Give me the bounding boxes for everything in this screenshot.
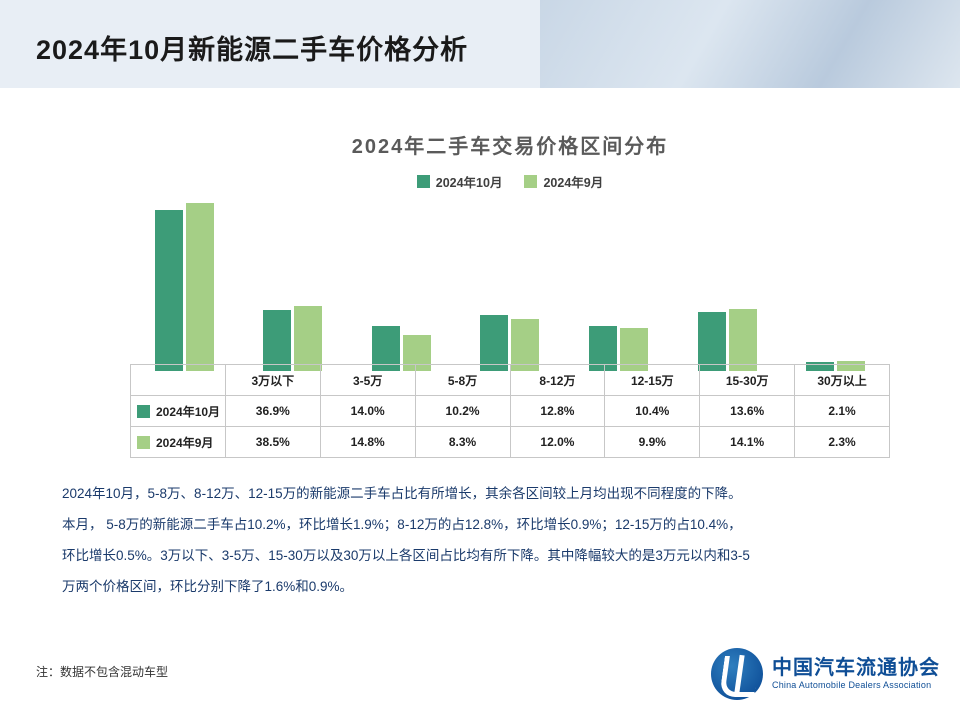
legend-label-0: 2024年10月 [436,172,503,191]
table-column-header: 3万以下 [225,365,320,396]
paragraph-line: 本月， 5-8万的新能源二手车占10.2%，环比增长1.9%；8-12万的占12… [62,509,898,540]
page-header: 2024年10月新能源二手车价格分析 [0,0,960,88]
table-series-label: 2024年10月 [156,403,220,420]
page-title: 2024年10月新能源二手车价格分析 [36,28,468,67]
legend-label-1: 2024年9月 [543,172,603,191]
logo-text-cn: 中国汽车流通协会 [772,657,940,679]
bar-group [347,196,456,371]
bar-series-0 [480,315,508,371]
paragraph-line: 2024年10月，5-8万、8-12万、12-15万的新能源二手车占比有所增长，… [62,478,898,509]
table-row-header: 2024年9月 [131,427,226,458]
bar-series-1 [729,309,757,371]
footnote: 注：数据不包含混动车型 [36,663,168,680]
table-cell: 12.8% [510,396,605,427]
header-decoration [540,0,960,88]
bar-group [564,196,673,371]
table-cell: 14.1% [700,427,795,458]
table-corner-cell [131,365,226,396]
bar-group [673,196,782,371]
table-column-header: 12-15万 [605,365,700,396]
cada-logo-icon [711,648,763,700]
table-cell: 8.3% [415,427,510,458]
table-column-header: 8-12万 [510,365,605,396]
table-cell: 9.9% [605,427,700,458]
table-column-header: 15-30万 [700,365,795,396]
analysis-paragraph: 2024年10月，5-8万、8-12万、12-15万的新能源二手车占比有所增长，… [62,478,898,602]
chart-title: 2024年二手车交易价格区间分布 [130,130,890,159]
paragraph-line: 环比增长0.5%。3万以下、3-5万、15-30万以及30万以上各区间占比均有所… [62,540,898,571]
paragraph-line: 万两个价格区间，环比分别下降了1.6%和0.9%。 [62,571,898,602]
table-cell: 13.6% [700,396,795,427]
logo-text-en: China Automobile Dealers Association [772,679,940,691]
table-cell: 36.9% [225,396,320,427]
table-column-header: 5-8万 [415,365,510,396]
table-cell: 2.1% [795,396,890,427]
bar-group [239,196,348,371]
table-series-label: 2024年9月 [156,434,213,451]
table-header-row: 3万以下3-5万5-8万8-12万12-15万15-30万30万以上 [131,365,890,396]
table-cell: 38.5% [225,427,320,458]
legend-item-series-1: 2024年9月 [524,172,603,191]
legend-swatch-icon-0 [417,175,430,188]
chart-plot-area [130,196,890,371]
table-cell: 10.4% [605,396,700,427]
header-divider [0,88,960,95]
table-cell: 14.8% [320,427,415,458]
table-cell: 12.0% [510,427,605,458]
table-swatch-icon [137,436,150,449]
table-cell: 2.3% [795,427,890,458]
table-swatch-icon [137,405,150,418]
table-cell: 14.0% [320,396,415,427]
chart-data-table: 3万以下3-5万5-8万8-12万12-15万15-30万30万以上2024年1… [130,364,890,458]
bar-series-1 [186,203,214,371]
table-row-header: 2024年10月 [131,396,226,427]
table-column-header: 30万以上 [795,365,890,396]
legend-swatch-icon-1 [524,175,537,188]
table-row: 2024年9月38.5%14.8%8.3%12.0%9.9%14.1%2.3% [131,427,890,458]
bar-group [456,196,565,371]
bar-group [130,196,239,371]
chart-legend: 2024年10月 2024年9月 [130,172,890,191]
bar-group [781,196,890,371]
bar-series-0 [263,310,291,371]
legend-item-series-0: 2024年10月 [417,172,503,191]
table-column-header: 3-5万 [320,365,415,396]
table-cell: 10.2% [415,396,510,427]
bar-series-1 [294,306,322,371]
bar-series-0 [155,210,183,371]
table-row: 2024年10月36.9%14.0%10.2%12.8%10.4%13.6%2.… [131,396,890,427]
organization-logo: 中国汽车流通协会 China Automobile Dealers Associ… [711,648,940,700]
bar-series-0 [698,312,726,372]
